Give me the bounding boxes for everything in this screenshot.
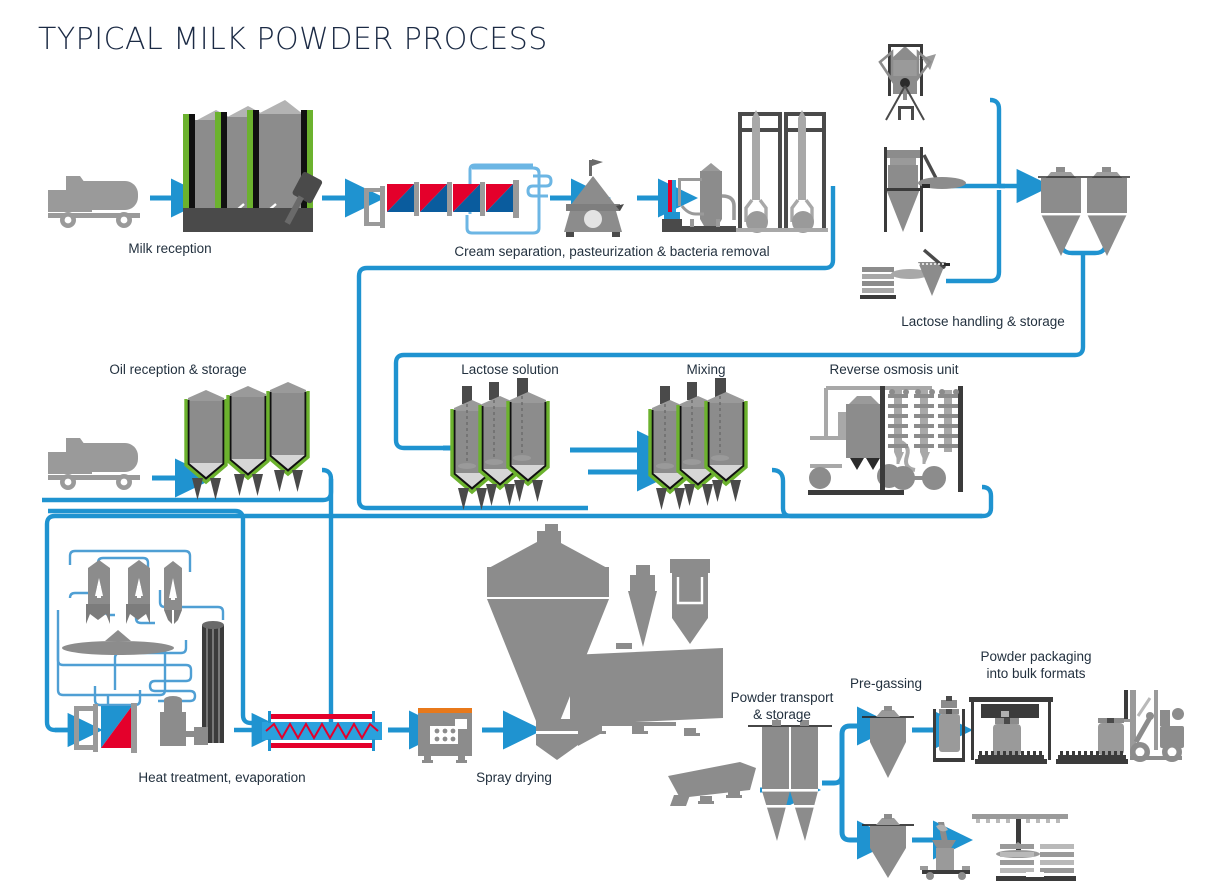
preheater-exchanger-icon	[74, 703, 137, 753]
stage-label-powder-packaging: Powder packaging	[980, 649, 1091, 665]
process-flow-diagram: TYPICAL MILK POWDER PROCESS	[0, 0, 1214, 886]
cyclone-separator-icon	[628, 565, 657, 647]
pallet-stack-icon	[996, 844, 1076, 881]
forklift-icon	[1130, 690, 1184, 762]
high-pressure-pump-icon	[418, 708, 472, 763]
fluid-bed-dryer-icon	[570, 643, 723, 736]
stage-label-reverse-osmosis: Reverse osmosis unit	[829, 362, 958, 378]
big-bag-unloader-icon	[880, 44, 936, 120]
pasteurizer-skid-icon	[662, 163, 736, 232]
stage-label-pre-gassing: Pre-gassing	[850, 676, 922, 692]
milk-storage-silos-icon	[183, 100, 323, 232]
stage-label-powder-storage: & storage	[753, 707, 811, 723]
homogenizer-icon	[160, 696, 208, 746]
stage-label-milk-reception: Milk reception	[128, 241, 211, 257]
milk-tanker-truck-icon	[48, 176, 140, 228]
connector-bigbag-to-merge	[990, 100, 999, 186]
powder-storage-silos-icon	[748, 718, 832, 841]
connector-pasteurization-to-mixing-loop	[359, 186, 833, 508]
sack-filling-machine-icon	[920, 822, 970, 880]
stage-label-cream-separation: Cream separation, pasteurization & bacte…	[454, 244, 769, 260]
palletizer-icon	[972, 814, 1068, 858]
bacteria-removal-columns-icon	[736, 110, 828, 233]
lactose-storage-silos-icon	[1038, 167, 1130, 256]
stage-label-bulk-formats: into bulk formats	[986, 666, 1085, 682]
holding-tube-icon	[262, 711, 382, 751]
mixing-tanks-icon	[650, 378, 746, 510]
condenser-column-icon	[202, 621, 224, 743]
pre-gassing-hopper-icon-bottom	[862, 814, 914, 878]
connector-evaporation-to-holding	[243, 519, 256, 723]
stage-label-heat-treatment: Heat treatment, evaporation	[138, 770, 305, 786]
plate-heat-exchanger-icon	[364, 180, 519, 228]
powder-conveyor-icon	[668, 762, 756, 806]
stage-label-powder-transport: Powder transport	[731, 690, 834, 706]
oil-tanker-truck-icon	[48, 438, 140, 490]
sack-tipping-station-icon	[860, 250, 950, 299]
reverse-osmosis-skid-icon	[808, 386, 963, 495]
stage-label-mixing: Mixing	[686, 362, 725, 378]
bag-filling-station-icon	[969, 697, 1053, 764]
connector-powder-split-bracket	[822, 726, 862, 840]
connector-sacktip-to-merge	[946, 190, 999, 281]
bag-filter-icon	[670, 559, 710, 644]
stage-label-lactose-solution: Lactose solution	[461, 362, 559, 378]
bag-conveyor-icon	[1056, 690, 1132, 764]
flash-vessel-icon	[62, 630, 174, 655]
pre-gassing-hopper-icon-top	[862, 706, 914, 778]
oil-storage-tanks-icon	[186, 382, 308, 500]
bulk-intake-hopper-icon	[884, 147, 966, 232]
stage-label-oil-reception: Oil reception & storage	[109, 362, 246, 378]
stage-label-lactose-handling: Lactose handling & storage	[901, 314, 1065, 330]
diagram-canvas	[0, 0, 1214, 886]
evaporator-effects-icon	[86, 560, 182, 624]
lactose-solution-tanks-icon	[452, 378, 548, 510]
stage-label-spray-drying: Spray drying	[476, 770, 552, 786]
